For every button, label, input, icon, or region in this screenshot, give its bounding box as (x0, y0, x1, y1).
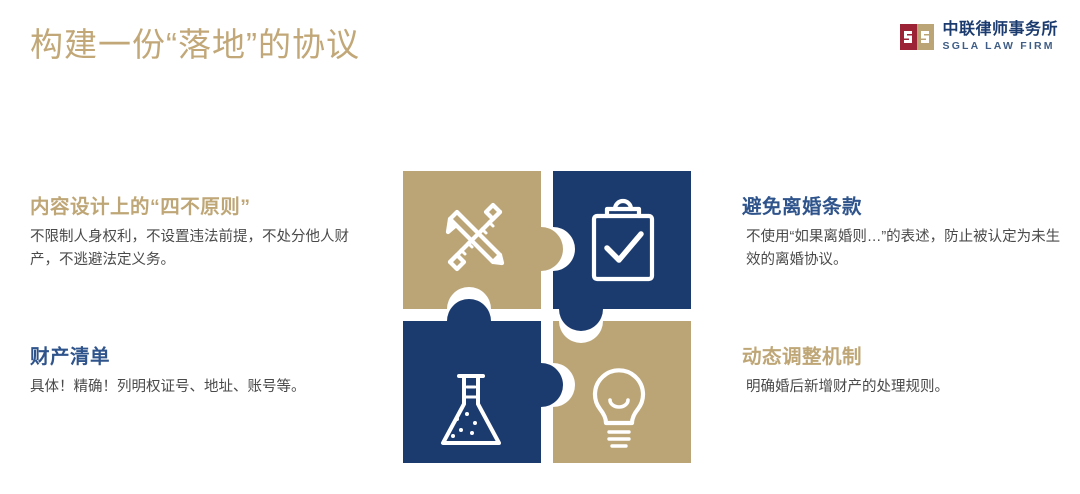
brand-logo: 中联律师事务所 SGLA LAW FIRM (900, 22, 1058, 52)
logo-name-cn: 中联律师事务所 (942, 22, 1058, 38)
content-block-right-2: 动态调整机制 明确婚后新增财产的处理规则。 (742, 340, 1062, 399)
puzzle-piece-top-right (553, 171, 691, 331)
puzzle-graphic (403, 171, 691, 463)
block-body: 不使用“如果离婚则…”的表述，防止被认定为未生效的离婚协议。 (746, 226, 1062, 273)
block-body: 不限制人身权利，不设置违法前提，不处分他人财产，不逃避法定义务。 (30, 226, 350, 273)
sgla-logo-mark-icon (900, 24, 934, 50)
logo-name-en: SGLA LAW FIRM (942, 41, 1058, 52)
block-heading: 动态调整机制 (742, 340, 1062, 369)
block-body: 明确婚后新增财产的处理规则。 (746, 376, 1062, 399)
puzzle-piece-bottom-left (403, 299, 563, 463)
block-heading: 避免离婚条款 (742, 190, 1062, 219)
content-block-right-1: 避免离婚条款 不使用“如果离婚则…”的表述，防止被认定为未生效的离婚协议。 (742, 190, 1062, 273)
block-body: 具体！精确！列明权证号、地址、账号等。 (30, 376, 350, 399)
puzzle-piece-bottom-right (553, 321, 691, 463)
logo-text: 中联律师事务所 SGLA LAW FIRM (942, 22, 1058, 52)
content-block-left-2: 财产清单 具体！精确！列明权证号、地址、账号等。 (30, 340, 350, 399)
content-block-left-1: 内容设计上的“四不原则” 不限制人身权利，不设置违法前提，不处分他人财产，不逃避… (30, 190, 350, 273)
block-heading: 财产清单 (30, 340, 350, 369)
block-heading: 内容设计上的“四不原则” (30, 190, 350, 219)
page-title: 构建一份“落地”的协议 (30, 18, 360, 66)
